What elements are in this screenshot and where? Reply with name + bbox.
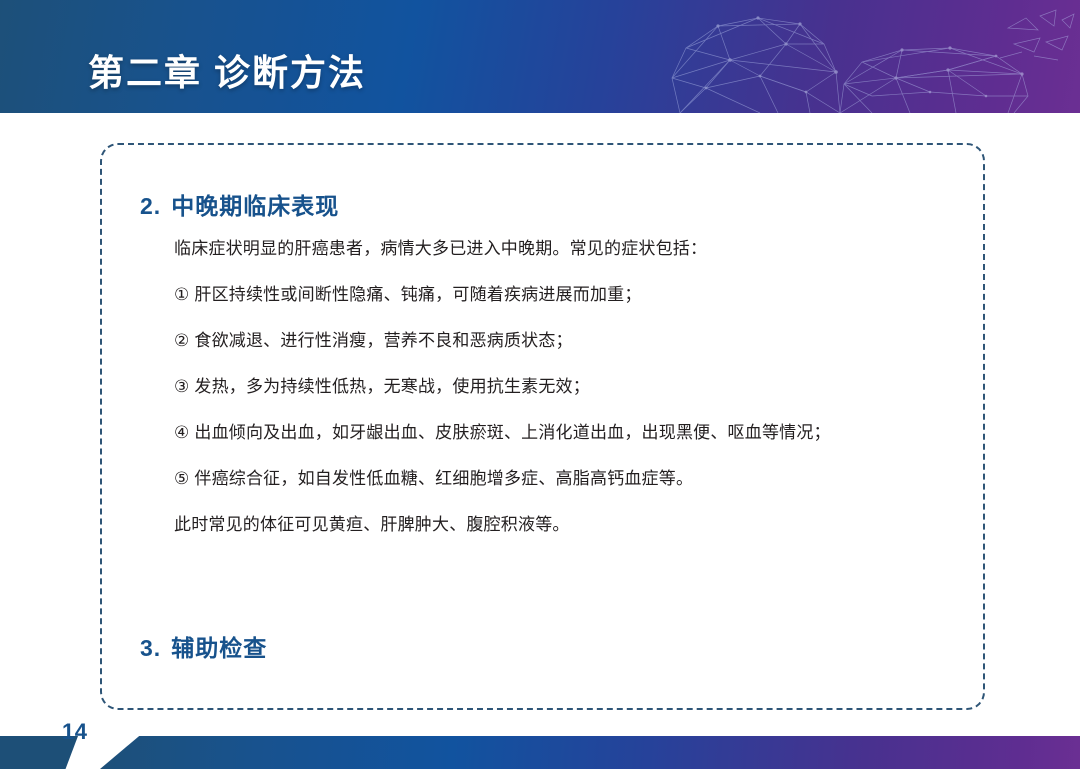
body-line-item-1: ① 肝区持续性或间断性隐痛、钝痛，可随着疾病进展而加重； (174, 286, 964, 303)
section-heading-2: 2.中晚期临床表现 (140, 187, 339, 221)
header-banner: 第二章 诊断方法 (0, 0, 1080, 113)
body-line-item-5: ⑤ 伴癌综合征，如自发性低血糖、红细胞增多症、高脂高钙血症等。 (174, 470, 964, 487)
section-title-2: 中晚期临床表现 (171, 193, 339, 219)
content-dashed-box: 2.中晚期临床表现 临床症状明显的肝癌患者，病情大多已进入中晚期。常见的症状包括… (100, 143, 985, 710)
footer-bar: 14 (0, 729, 1080, 769)
body-line-intro: 临床症状明显的肝癌患者，病情大多已进入中晚期。常见的症状包括： (174, 240, 964, 257)
section-number-2: 2. (140, 193, 161, 219)
page-number: 14 (62, 719, 87, 745)
footer-gradient-bar (100, 736, 1080, 769)
section-2-body: 临床症状明显的肝癌患者，病情大多已进入中晚期。常见的症状包括： ① 肝区持续性或… (174, 240, 964, 533)
page-title: 第二章 诊断方法 (88, 44, 366, 96)
body-line-closing: 此时常见的体征可见黄疸、肝脾肿大、腹腔积液等。 (174, 516, 964, 533)
body-line-item-4: ④ 出血倾向及出血，如牙龈出血、皮肤瘀斑、上消化道出血，出现黑便、呕血等情况； (174, 424, 964, 441)
section-title-3: 辅助检查 (171, 635, 267, 661)
polygon-network-brain-icon (610, 0, 1080, 113)
section-heading-3: 3.辅助检查 (140, 629, 267, 663)
section-number-3: 3. (140, 635, 161, 661)
body-line-item-3: ③ 发热，多为持续性低热，无寒战，使用抗生素无效； (174, 378, 964, 395)
body-line-item-2: ② 食欲减退、进行性消瘦，营养不良和恶病质状态； (174, 332, 964, 349)
